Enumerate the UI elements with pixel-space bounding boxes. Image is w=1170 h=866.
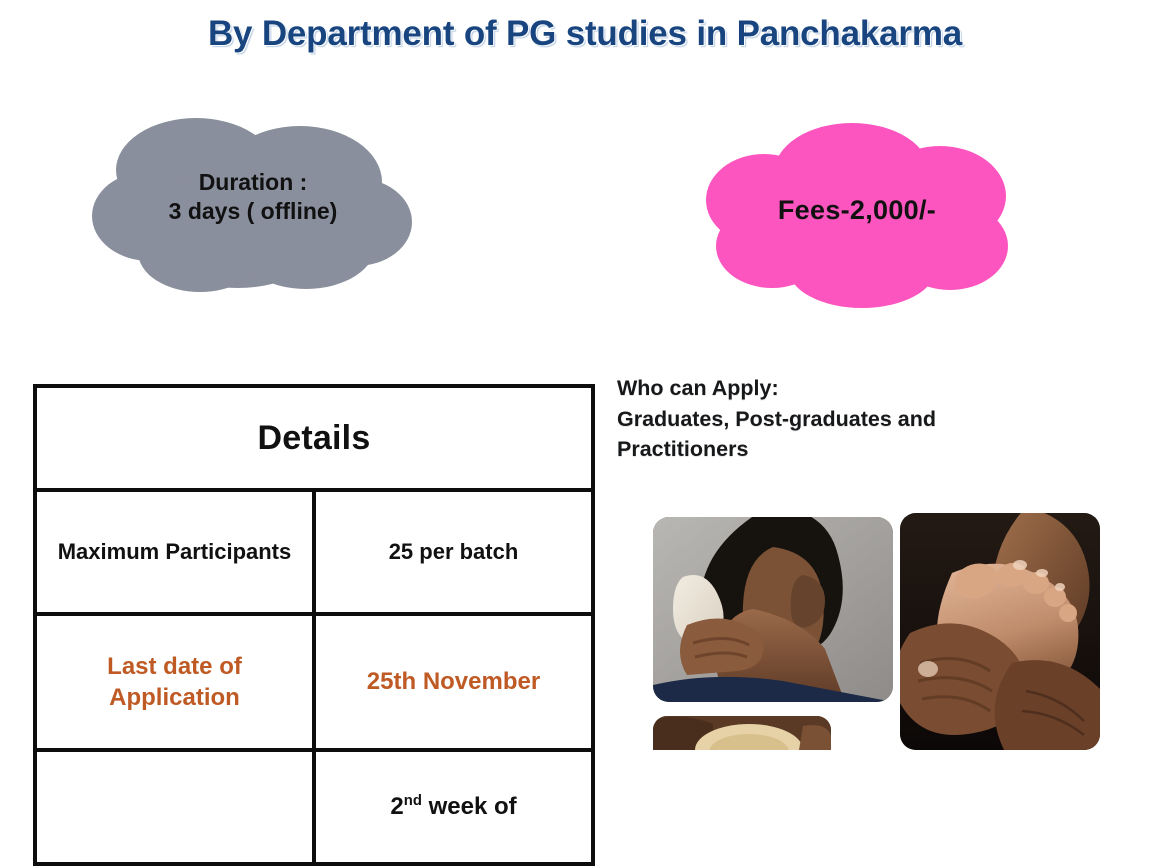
- table-header-details: Details: [35, 386, 593, 490]
- photo-foot-massage: [900, 513, 1100, 750]
- table-row: Maximum Participants 25 per batch: [35, 490, 593, 614]
- row-label-last-date: Last date of Application: [35, 614, 314, 750]
- row-value-last-date: 25th November: [314, 614, 593, 750]
- who-can-apply-text: Who can Apply: Graduates, Post-graduates…: [617, 373, 1087, 465]
- week-value-suffix: week of: [422, 793, 517, 820]
- table-row: Last date of Application 25th November: [35, 614, 593, 750]
- head-massage-image: [653, 716, 831, 750]
- row-value-week-of: 2nd week of: [314, 750, 593, 864]
- week-value-ordinal: nd: [404, 793, 422, 809]
- table-header-row: Details: [35, 386, 593, 490]
- row-label-empty: [35, 750, 314, 864]
- fees-cloud-label: Fees-2,000/-: [702, 193, 1012, 228]
- neck-massage-image: [653, 517, 893, 702]
- page-title: By Department of PG studies in Panchakar…: [0, 14, 1170, 54]
- photo-head-massage: [653, 716, 831, 750]
- photo-neck-massage: [653, 517, 893, 702]
- duration-cloud-label: Duration : 3 days ( offline): [88, 168, 418, 227]
- page-title-text: By Department of PG studies in Panchakar…: [208, 14, 962, 54]
- week-value-prefix: 2: [390, 793, 403, 820]
- table-row: 2nd week of: [35, 750, 593, 864]
- row-value-maximum-participants: 25 per batch: [314, 490, 593, 614]
- foot-massage-image: [900, 513, 1100, 750]
- fees-cloud: Fees-2,000/-: [702, 118, 1012, 313]
- details-table: Details Maximum Participants 25 per batc…: [33, 384, 595, 866]
- row-label-maximum-participants: Maximum Participants: [35, 490, 314, 614]
- duration-cloud: Duration : 3 days ( offline): [88, 112, 418, 302]
